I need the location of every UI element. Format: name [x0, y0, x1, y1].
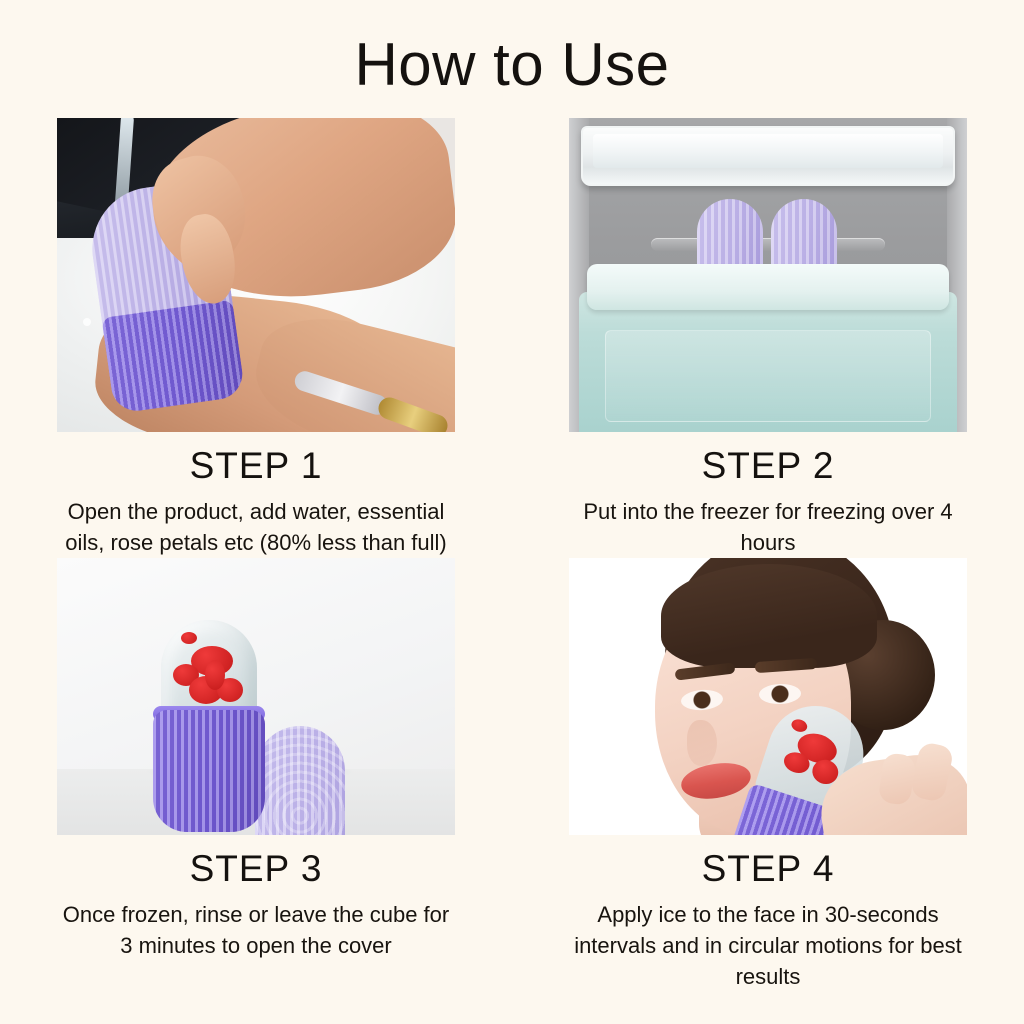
rose-petal [181, 632, 197, 644]
steps-grid: STEP 1 Open the product, add water, esse… [0, 118, 1024, 993]
roller-base [101, 300, 245, 414]
step-3-label: STEP 3 [190, 849, 323, 890]
rose-petal [790, 718, 809, 734]
step-card-3: STEP 3 Once frozen, rinse or leave the c… [0, 558, 512, 992]
step-2-description: Put into the freezer for freezing over 4… [568, 496, 968, 558]
step-4-image [569, 558, 967, 835]
step-4-label: STEP 4 [702, 849, 835, 890]
step-card-1: STEP 1 Open the product, add water, esse… [0, 118, 512, 558]
rose-petal [205, 660, 225, 690]
freezer-shelf [581, 126, 955, 186]
freezer-drawer [579, 292, 957, 432]
step-1-image [57, 118, 455, 432]
step-2-label: STEP 2 [702, 446, 835, 487]
step-card-4: STEP 4 Apply ice to the face in 30-secon… [512, 558, 1024, 992]
step-1-description: Open the product, add water, essential o… [56, 496, 456, 558]
model-hair-front [661, 564, 877, 668]
detached-cover [255, 726, 345, 835]
model-nose [687, 720, 717, 766]
freezer-shelf-glass [593, 134, 943, 168]
freezer-drawer-front [605, 330, 931, 422]
step-4-description: Apply ice to the face in 30-seconds inte… [568, 899, 968, 993]
cover-rib-texture [255, 726, 345, 835]
roller-base [153, 710, 265, 832]
step-3-image [57, 558, 455, 835]
step-3-description: Once frozen, rinse or leave the cube for… [56, 899, 456, 961]
step-1-label: STEP 1 [190, 446, 323, 487]
step-2-image [569, 118, 967, 432]
page-title: How to Use [0, 0, 1024, 98]
freezer-wall-slot-1 [651, 238, 885, 251]
step-card-2: STEP 2 Put into the freezer for freezing… [512, 118, 1024, 558]
freezer-drawer-lid [587, 264, 949, 310]
